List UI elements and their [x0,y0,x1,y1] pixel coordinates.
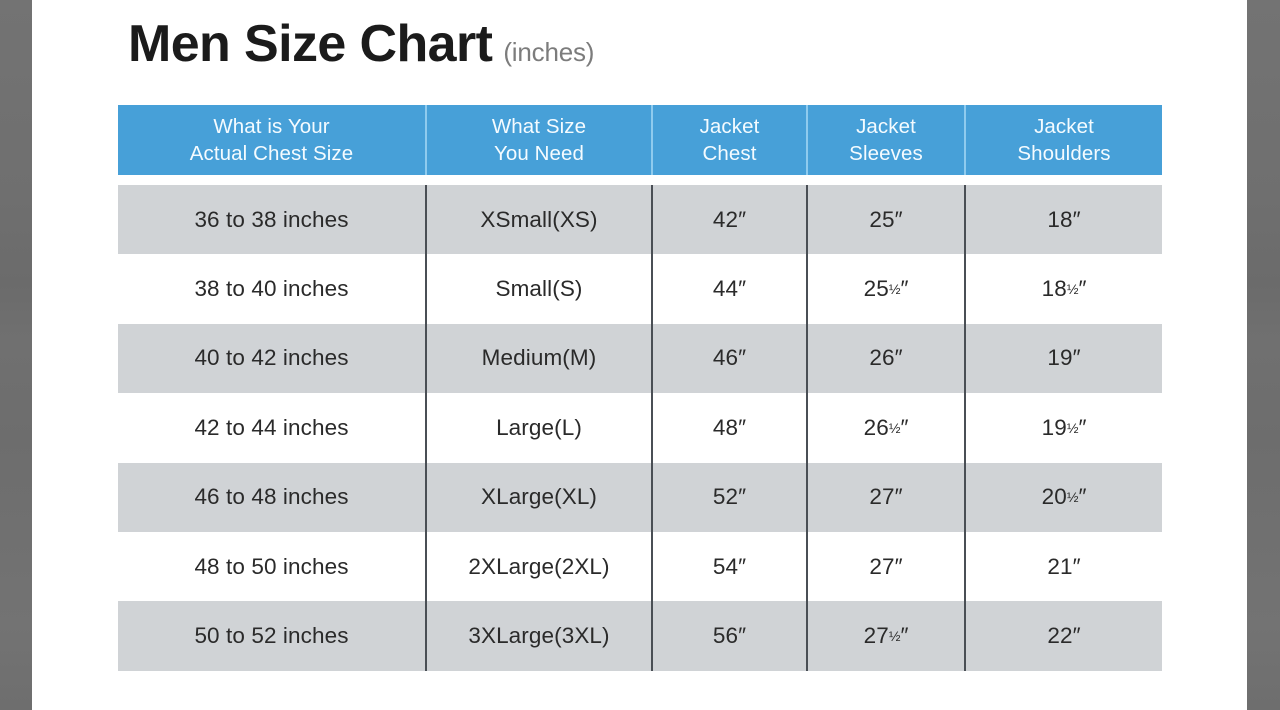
page-title-text: Men Size Chart [128,18,492,70]
cell-actual-chest-size: 40 to 42 inches [118,324,425,393]
column-header-jacket-shoulders: Jacket Shoulders [964,105,1162,175]
cell-jacket-chest: 42″ [651,185,806,254]
screenshot-stage: Men Size Chart (inches) What is Your Act… [0,0,1280,710]
cell-actual-chest-size: 38 to 40 inches [118,254,425,323]
column-header-line1: What is Your [213,113,329,140]
table-row: 40 to 42 inchesMedium(M)46″26″19″ [118,324,1162,393]
cell-size-needed: Small(S) [425,254,651,323]
cell-jacket-sleeves: 25″ [806,185,964,254]
cell-jacket-chest: 46″ [651,324,806,393]
cell-jacket-shoulders: 18″ [964,185,1162,254]
cell-jacket-sleeves: 27″ [806,532,964,601]
column-header-jacket-sleeves: Jacket Sleeves [806,105,964,175]
cell-size-needed: Medium(M) [425,324,651,393]
cell-jacket-chest: 52″ [651,463,806,532]
column-header-line2: Sleeves [849,140,923,167]
column-header-line2: You Need [494,140,584,167]
column-header-line1: What Size [492,113,586,140]
cell-actual-chest-size: 50 to 52 inches [118,601,425,670]
cell-actual-chest-size: 36 to 38 inches [118,185,425,254]
cell-jacket-shoulders: 19½″ [964,393,1162,462]
cell-jacket-sleeves: 27″ [806,463,964,532]
cell-size-needed: 3XLarge(3XL) [425,601,651,670]
cell-jacket-chest: 44″ [651,254,806,323]
size-chart-page: Men Size Chart (inches) What is Your Act… [32,0,1247,710]
table-row: 50 to 52 inches3XLarge(3XL)56″27½″22″ [118,601,1162,670]
table-row: 46 to 48 inchesXLarge(XL)52″27″20½″ [118,463,1162,532]
page-title-unit: (inches) [503,39,594,65]
cell-jacket-shoulders: 18½″ [964,254,1162,323]
table-row: 48 to 50 inches2XLarge(2XL)54″27″21″ [118,532,1162,601]
column-header-line1: Jacket [1034,113,1094,140]
cell-jacket-shoulders: 22″ [964,601,1162,670]
column-header-jacket-chest: Jacket Chest [651,105,806,175]
page-title: Men Size Chart (inches) [128,18,594,70]
table-row: 38 to 40 inchesSmall(S)44″25½″18½″ [118,254,1162,323]
men-size-chart-table: What is Your Actual Chest Size What Size… [118,105,1162,671]
column-header-line1: Jacket [856,113,916,140]
letterbox-band-left [0,0,32,710]
cell-size-needed: 2XLarge(2XL) [425,532,651,601]
cell-jacket-sleeves: 26½″ [806,393,964,462]
cell-size-needed: XSmall(XS) [425,185,651,254]
cell-jacket-sleeves: 26″ [806,324,964,393]
cell-jacket-chest: 54″ [651,532,806,601]
column-header-line2: Actual Chest Size [190,140,354,167]
table-header-row: What is Your Actual Chest Size What Size… [118,105,1162,175]
cell-jacket-chest: 48″ [651,393,806,462]
column-header-line2: Chest [702,140,756,167]
column-header-size-needed: What Size You Need [425,105,651,175]
cell-jacket-sleeves: 27½″ [806,601,964,670]
cell-size-needed: Large(L) [425,393,651,462]
cell-jacket-shoulders: 19″ [964,324,1162,393]
cell-size-needed: XLarge(XL) [425,463,651,532]
cell-jacket-chest: 56″ [651,601,806,670]
header-body-gap [118,175,1162,185]
table-body: 36 to 38 inchesXSmall(XS)42″25″18″38 to … [118,185,1162,671]
cell-actual-chest-size: 48 to 50 inches [118,532,425,601]
cell-actual-chest-size: 46 to 48 inches [118,463,425,532]
cell-actual-chest-size: 42 to 44 inches [118,393,425,462]
table-row: 36 to 38 inchesXSmall(XS)42″25″18″ [118,185,1162,254]
column-header-actual-chest-size: What is Your Actual Chest Size [118,105,425,175]
table-row: 42 to 44 inchesLarge(L)48″26½″19½″ [118,393,1162,462]
cell-jacket-sleeves: 25½″ [806,254,964,323]
column-header-line1: Jacket [700,113,760,140]
cell-jacket-shoulders: 20½″ [964,463,1162,532]
letterbox-band-right [1247,0,1280,710]
column-header-line2: Shoulders [1017,140,1110,167]
cell-jacket-shoulders: 21″ [964,532,1162,601]
